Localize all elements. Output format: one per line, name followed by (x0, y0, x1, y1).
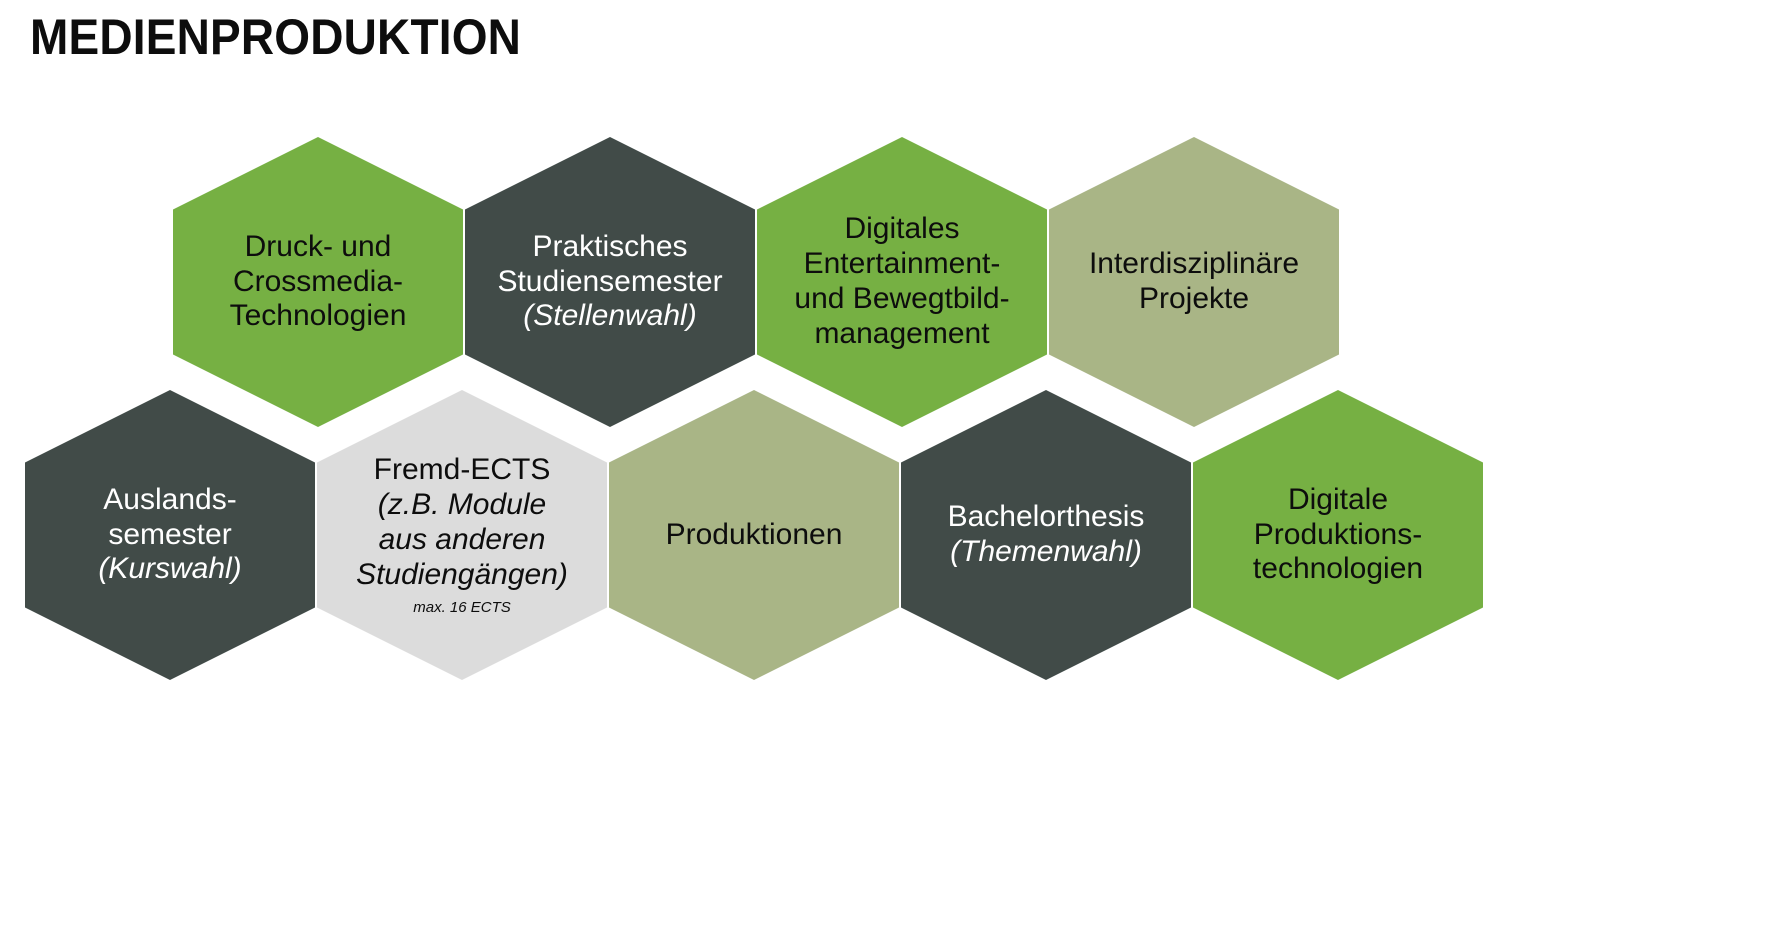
hexagon-label-line: Produktions- (1254, 518, 1422, 553)
hexagon-digitale-produktionstechnologien[interactable]: DigitaleProduktions-technologien (1193, 390, 1483, 680)
hexagon-label-line: semester (108, 518, 231, 553)
hexagon-bachelorthesis[interactable]: Bachelorthesis(Themenwahl) (901, 390, 1191, 680)
hexagon-label-druck-und-crossmedia-technologien: Druck- undCrossmedia-Technologien (173, 137, 463, 427)
hexagon-label-line: Studiensemester (497, 265, 722, 300)
hexagon-label-line: (Kurswahl) (98, 552, 241, 587)
hexagon-label-interdisziplinaere-projekte: InterdisziplinäreProjekte (1049, 137, 1339, 427)
hexagon-label-line: Praktisches (532, 230, 687, 265)
hexagon-label-line: Entertainment- (804, 247, 1001, 282)
hexagon-label-digitale-produktionstechnologien: DigitaleProduktions-technologien (1193, 390, 1483, 680)
hexagon-label-line: management (814, 317, 989, 352)
hexagon-label-fremd-ects: Fremd-ECTS(z.B. Moduleaus anderenStudien… (317, 390, 607, 680)
hexagon-label-line: Studiengängen) (356, 558, 568, 593)
hexagon-label-line: (z.B. Module (378, 488, 546, 523)
hexagon-label-line: technologien (1253, 552, 1423, 587)
hexagon-interdisziplinaere-projekte[interactable]: InterdisziplinäreProjekte (1049, 137, 1339, 427)
hexagon-digitales-entertainment-und-bewegtbildmanagement[interactable]: DigitalesEntertainment-und Bewegtbild-ma… (757, 137, 1047, 427)
hexagon-label-line: Projekte (1139, 282, 1249, 317)
hexagon-label-line: Druck- und (245, 230, 392, 265)
hexagon-label-line: Interdisziplinäre (1089, 247, 1299, 282)
hexagon-label-produktionen: Produktionen (609, 390, 899, 680)
hexagon-label-line: Digitale (1288, 483, 1388, 518)
hexagon-label-line: Digitales (844, 212, 959, 247)
hexagon-label-line: Fremd-ECTS (374, 453, 551, 488)
hexagon-label-line: Bachelorthesis (948, 500, 1145, 535)
hexagon-label-auslandssemester: Auslands-semester(Kurswahl) (25, 390, 315, 680)
hexagon-label-line: aus anderen (379, 523, 546, 558)
hexagon-diagram: Druck- undCrossmedia-TechnologienPraktis… (0, 0, 1779, 945)
hexagon-praktisches-studiensemester[interactable]: PraktischesStudiensemester(Stellenwahl) (465, 137, 755, 427)
hexagon-label-line: (Stellenwahl) (523, 299, 696, 334)
hexagon-druck-und-crossmedia-technologien[interactable]: Druck- undCrossmedia-Technologien (173, 137, 463, 427)
hexagon-label-digitales-entertainment-und-bewegtbildmanagement: DigitalesEntertainment-und Bewegtbild-ma… (757, 137, 1047, 427)
hexagon-label-line: Technologien (230, 299, 407, 334)
hexagon-produktionen[interactable]: Produktionen (609, 390, 899, 680)
hexagon-label-line: und Bewegtbild- (794, 282, 1009, 317)
hexagon-label-bachelorthesis: Bachelorthesis(Themenwahl) (901, 390, 1191, 680)
hexagon-label-praktisches-studiensemester: PraktischesStudiensemester(Stellenwahl) (465, 137, 755, 427)
hexagon-label-line: Produktionen (666, 518, 843, 553)
hexagon-label-line: Crossmedia- (233, 265, 403, 300)
hexagon-auslandssemester[interactable]: Auslands-semester(Kurswahl) (25, 390, 315, 680)
hexagon-label-line: max. 16 ECTS (413, 599, 511, 616)
hexagon-fremd-ects[interactable]: Fremd-ECTS(z.B. Moduleaus anderenStudien… (317, 390, 607, 680)
hexagon-label-line: (Themenwahl) (950, 535, 1142, 570)
hexagon-label-line: Auslands- (103, 483, 236, 518)
